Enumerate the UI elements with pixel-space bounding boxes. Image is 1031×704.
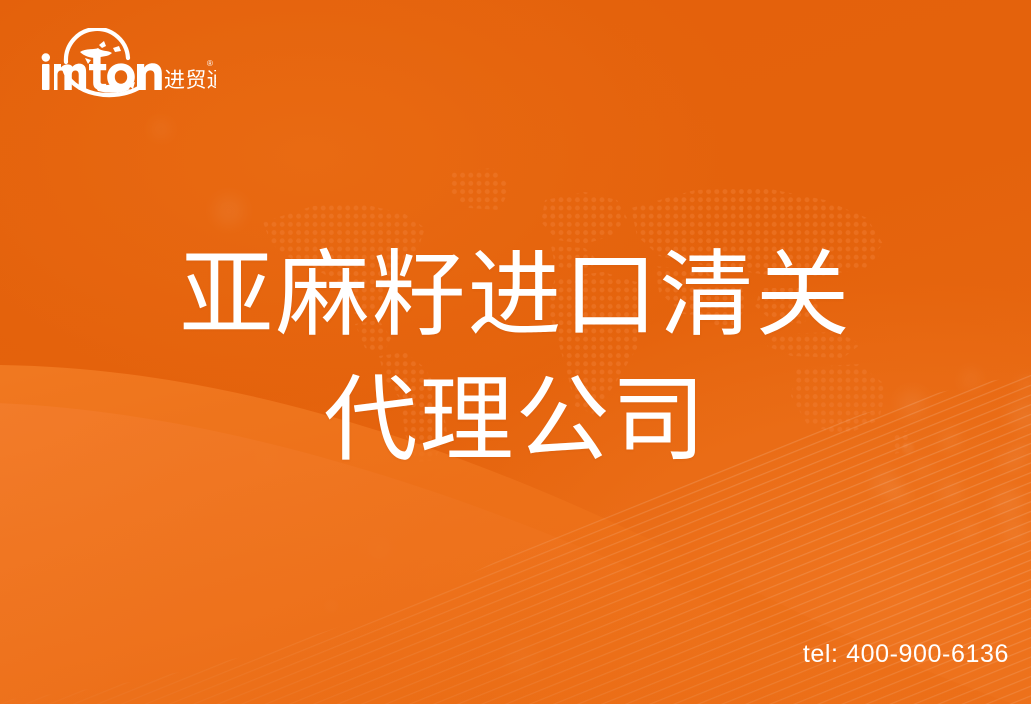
promo-banner: 进贸通 ® 亚麻籽进口清关 代理公司 tel: 400-900-6136 <box>0 0 1031 704</box>
registered-trademark-icon: ® <box>207 59 213 68</box>
brand-logo[interactable]: 进贸通 ® <box>36 28 216 102</box>
page-title: 亚麻籽进口清关 代理公司 <box>0 232 1031 482</box>
headline-line-2: 代理公司 <box>0 357 1031 482</box>
headline-line-1: 亚麻籽进口清关 <box>0 232 1031 357</box>
logo-chinese-text: 进贸通 <box>164 69 216 92</box>
contact-phone[interactable]: tel: 400-900-6136 <box>803 640 1009 669</box>
